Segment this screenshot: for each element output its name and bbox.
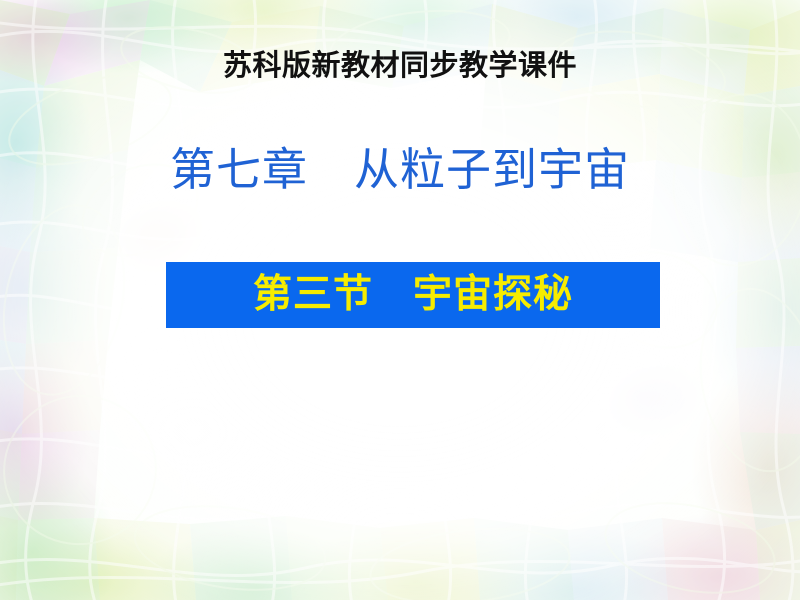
slide-chapter-title: 第七章 从粒子到宇宙 — [0, 148, 800, 193]
section-title-text: 第三节 宇宙探秘 — [253, 275, 573, 314]
slide-content: 苏科版新教材同步教学课件 第七章 从粒子到宇宙 第三节 宇宙探秘 — [0, 0, 800, 600]
slide-subtitle: 苏科版新教材同步教学课件 — [0, 52, 800, 81]
presentation-slide: 苏科版新教材同步教学课件 第七章 从粒子到宇宙 第三节 宇宙探秘 — [0, 0, 800, 600]
section-title-banner: 第三节 宇宙探秘 — [166, 262, 660, 328]
